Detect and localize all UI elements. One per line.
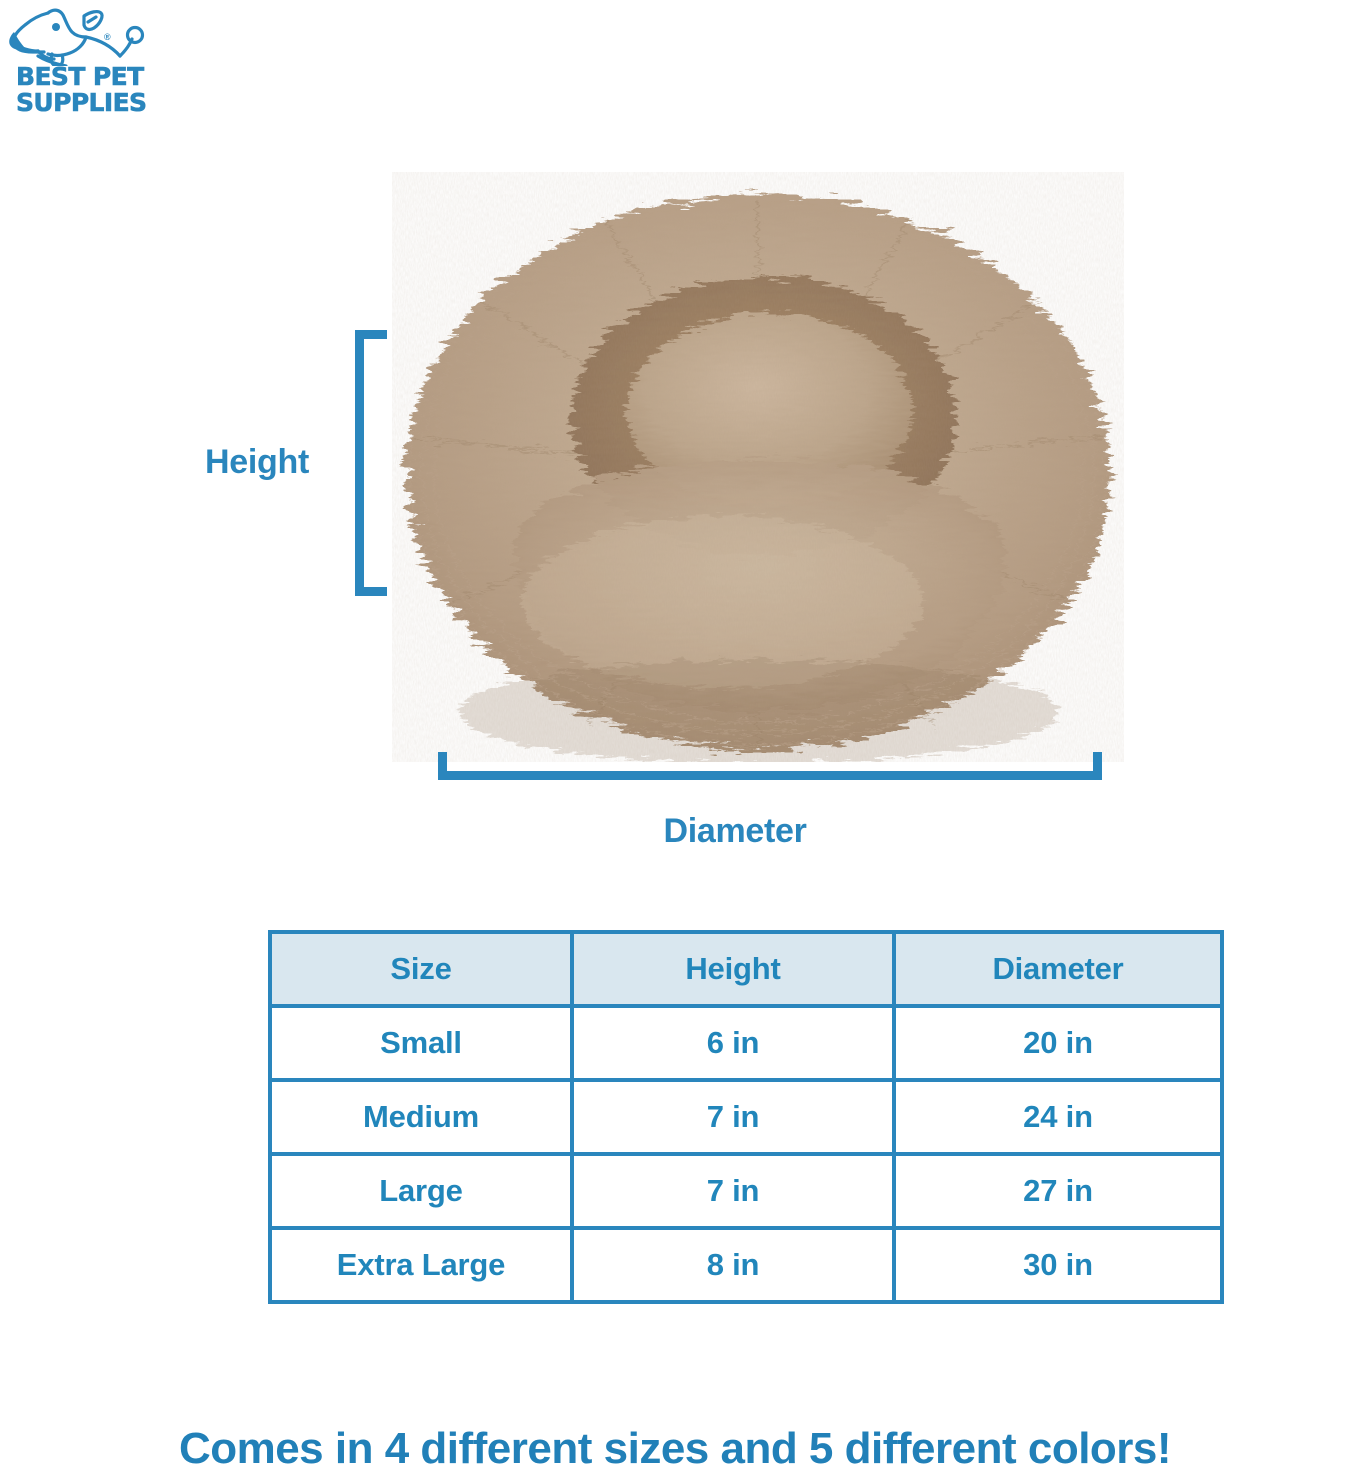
size-chart-table: Size Height Diameter Small 6 in 20 in Me…	[268, 930, 1224, 1304]
cell-height: 8 in	[572, 1228, 894, 1302]
brand-name-line1: BEST PET	[16, 64, 166, 90]
table-row: Large 7 in 27 in	[270, 1154, 1222, 1228]
cell-diameter: 27 in	[894, 1154, 1222, 1228]
product-image	[392, 172, 1124, 762]
table-header-row: Size Height Diameter	[270, 932, 1222, 1006]
cell-size: Large	[270, 1154, 572, 1228]
cell-diameter: 24 in	[894, 1080, 1222, 1154]
cell-size: Extra Large	[270, 1228, 572, 1302]
cell-diameter: 30 in	[894, 1228, 1222, 1302]
column-header-diameter: Diameter	[894, 932, 1222, 1006]
brand-name-line2: SUPPLIES	[16, 90, 166, 116]
infographic-page: ® BEST PET SUPPLIES	[0, 0, 1350, 1475]
table-row: Small 6 in 20 in	[270, 1006, 1222, 1080]
footer-tagline: Comes in 4 different sizes and 5 differe…	[0, 1424, 1350, 1474]
diameter-bracket-icon	[438, 752, 1102, 780]
height-bracket-icon	[355, 330, 387, 596]
cell-height: 7 in	[572, 1154, 894, 1228]
column-header-size: Size	[270, 932, 572, 1006]
table-row: Medium 7 in 24 in	[270, 1080, 1222, 1154]
registered-trademark-icon: ®	[104, 32, 111, 42]
table-row: Extra Large 8 in 30 in	[270, 1228, 1222, 1302]
cell-height: 7 in	[572, 1080, 894, 1154]
diameter-label: Diameter	[0, 812, 1350, 851]
column-header-height: Height	[572, 932, 894, 1006]
brand-name: BEST PET SUPPLIES	[16, 64, 166, 116]
dog-outline-icon	[8, 4, 158, 66]
height-label: Height	[205, 443, 309, 482]
cell-diameter: 20 in	[894, 1006, 1222, 1080]
cell-size: Medium	[270, 1080, 572, 1154]
cell-size: Small	[270, 1006, 572, 1080]
cell-height: 6 in	[572, 1006, 894, 1080]
brand-logo: ® BEST PET SUPPLIES	[8, 4, 173, 129]
